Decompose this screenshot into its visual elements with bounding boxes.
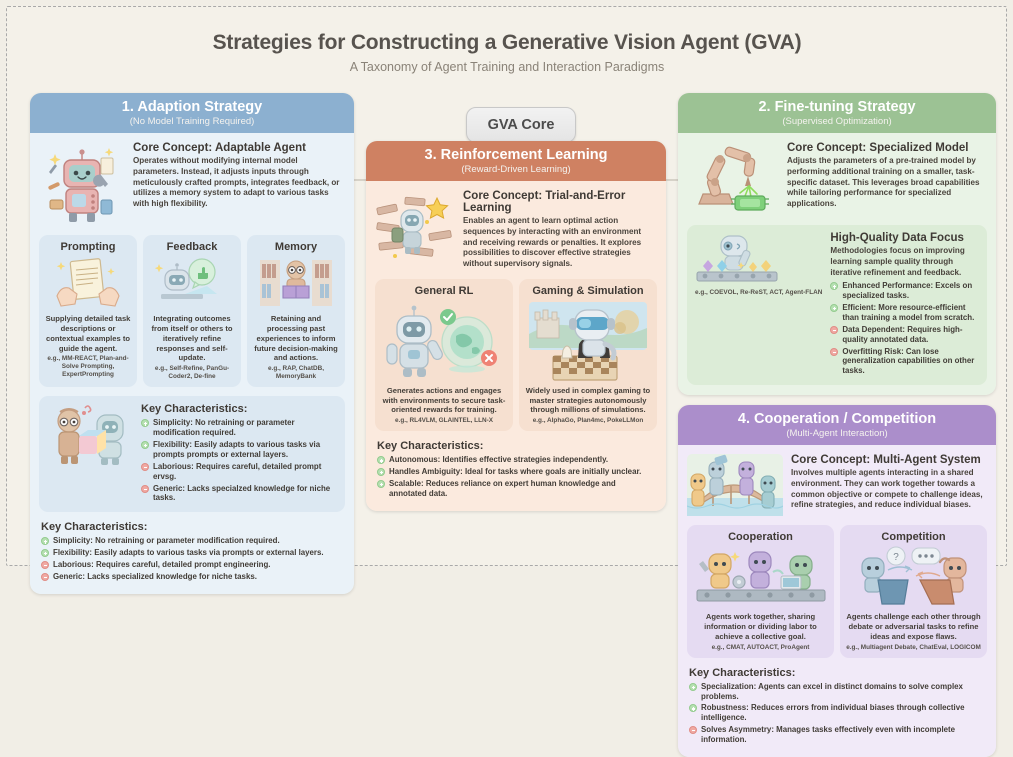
robot-with-tools-icon	[39, 142, 125, 226]
reinforcement-concept-title: Core Concept: Trial-and-Error Learning	[463, 190, 657, 214]
positive-dot-icon	[830, 304, 838, 312]
list-item: Handles Ambiguity: Ideal for tasks where…	[377, 467, 655, 477]
hands-document-icon	[44, 256, 132, 310]
adaption-inner-kc-list: Simplicity: No retraining or parameter m…	[141, 418, 337, 503]
panel-adaption-title: 1. Adaption Strategy	[34, 99, 350, 115]
panel-finetuning-strategy[interactable]: 2. Fine-tuning Strategy (Supervised Opti…	[678, 93, 996, 395]
panel-cooperation-header: 4. Cooperation / Competition (Multi-Agen…	[678, 405, 996, 445]
panel-cooperation-title: 4. Cooperation / Competition	[682, 411, 992, 427]
positive-dot-icon	[830, 282, 838, 290]
panel-reinforcement-title: 3. Reinforcement Learning	[370, 147, 662, 163]
list-item: Flexibility: Easily adapts to various ta…	[141, 440, 337, 460]
positive-dot-icon	[41, 549, 49, 557]
list-item: Simplicity: No retraining or parameter m…	[41, 536, 343, 546]
list-item: Laborious: Requires careful, detailed pr…	[41, 560, 343, 570]
adaption-subcards: Prompting	[39, 235, 345, 387]
subcard-general-rl-title: General RL	[380, 285, 508, 297]
negative-dot-icon	[141, 485, 149, 493]
robot-arm-chip-icon	[687, 142, 779, 216]
positive-dot-icon	[377, 480, 385, 488]
subcard-gaming-simulation[interactable]: Gaming & Simulation	[519, 279, 657, 432]
subcard-prompting-eg: e.g., MM-REACT, Plan-and-Solve Prompting…	[44, 355, 132, 379]
reinforcement-kc-list: Autonomous: Identifies effective strateg…	[377, 455, 655, 499]
finetuning-core-concept: Core Concept: Specialized Model Adjusts …	[687, 142, 987, 216]
robots-conveyor-icon	[692, 546, 829, 608]
panel-reinforcement-header: 3. Reinforcement Learning (Reward-Driven…	[366, 141, 666, 181]
cooperation-kc-title: Key Characteristics:	[689, 667, 985, 679]
negative-dot-icon	[141, 463, 149, 471]
cooperation-concept-title: Core Concept: Multi-Agent System	[791, 454, 987, 466]
header: Strategies for Constructing a Generative…	[18, 15, 996, 74]
robot-maze-star-icon	[375, 190, 455, 268]
list-item: Specialization: Agents can excel in dist…	[689, 682, 985, 702]
panel-finetuning-header: 2. Fine-tuning Strategy (Supervised Opti…	[678, 93, 996, 133]
subcard-cooperation-title: Cooperation	[692, 531, 829, 543]
reinforcement-concept-body: Enables an agent to learn optimal action…	[463, 216, 657, 270]
robot-vr-chess-icon	[524, 300, 652, 382]
list-item: Flexibility: Easily adapts to various ta…	[41, 548, 343, 558]
list-item: Enhanced Performance: Excels on speciali…	[830, 281, 979, 301]
subcard-gaming-simulation-eg: e.g., AlphaGo, Plan4mc, PokeLLMon	[524, 417, 652, 425]
adaption-outer-key-characteristics: Key Characteristics: Simplicity: No retr…	[39, 521, 345, 582]
reinforcement-subcards: General RL	[375, 279, 657, 432]
positive-dot-icon	[377, 456, 385, 464]
finetuning-data-focus-body: Methodologies focus on improving learnin…	[830, 246, 979, 278]
list-item: Autonomous: Identifies effective strateg…	[377, 455, 655, 465]
negative-dot-icon	[41, 561, 49, 569]
finetuning-concept-body: Adjusts the parameters of a pre-trained …	[787, 156, 987, 210]
finetuning-data-focus-title: High-Quality Data Focus	[830, 232, 979, 244]
diagram-canvas: Strategies for Constructing a Generative…	[6, 6, 1007, 566]
panel-finetuning-subtitle: (Supervised Optimization)	[682, 116, 992, 127]
cooperation-kc-list: Specialization: Agents can excel in dist…	[689, 682, 985, 745]
subcard-memory-eg: e.g., RAP, ChatDB, MemoryBank	[252, 365, 340, 381]
finetuning-data-focus[interactable]: e.g., COEVOL, Re-ReST, ACT, Agent-FLAN H…	[687, 225, 987, 385]
adaption-core-concept: Core Concept: Adaptable Agent Operates w…	[39, 142, 345, 226]
negative-dot-icon	[689, 726, 697, 734]
subcard-memory-title: Memory	[252, 241, 340, 253]
panel-adaption-strategy[interactable]: 1. Adaption Strategy (No Model Training …	[30, 93, 354, 594]
robots-bridge-icon	[687, 454, 783, 516]
subcard-prompting-desc: Supplying detailed task descriptions or …	[44, 314, 132, 353]
negative-dot-icon	[830, 326, 838, 334]
column-reinforcement: 3. Reinforcement Learning (Reward-Driven…	[366, 141, 666, 511]
adaption-outer-kc-title: Key Characteristics:	[41, 521, 343, 533]
subcard-competition-title: Competition	[845, 531, 982, 543]
list-item: Generic: Lacks specialzed knowledge for …	[141, 484, 337, 504]
robot-thumbsup-icon	[148, 256, 236, 310]
child-robot-cube-icon	[47, 403, 133, 467]
cooperation-core-concept: Core Concept: Multi-Agent System Involve…	[687, 454, 987, 516]
subcard-competition-desc: Agents challenge each other through deba…	[845, 612, 982, 642]
positive-dot-icon	[141, 419, 149, 427]
column-adaption: 1. Adaption Strategy (No Model Training …	[30, 93, 354, 594]
panel-finetuning-title: 2. Fine-tuning Strategy	[682, 99, 992, 115]
subcard-memory[interactable]: Memory	[247, 235, 345, 387]
cooperation-key-characteristics: Key Characteristics: Specialization: Age…	[687, 667, 987, 745]
finetuning-data-focus-list: Enhanced Performance: Excels on speciali…	[830, 281, 979, 376]
panel-finetuning-body: Core Concept: Specialized Model Adjusts …	[678, 133, 996, 395]
list-item: Simplicity: No retraining or parameter m…	[141, 418, 337, 438]
subcard-feedback[interactable]: Feedback	[143, 235, 241, 387]
column-right: 2. Fine-tuning Strategy (Supervised Opti…	[678, 93, 996, 757]
finetuning-concept-title: Core Concept: Specialized Model	[787, 142, 987, 154]
subcard-competition-eg: e.g., Multiagent Debate, ChatEval, LOGIC…	[845, 644, 982, 652]
subcard-competition[interactable]: Competition ?	[840, 525, 987, 658]
adaption-inner-kc-title: Key Characteristics:	[141, 403, 337, 415]
subcard-prompting[interactable]: Prompting	[39, 235, 137, 387]
subcard-feedback-desc: Integrating outcomes from itself or othe…	[148, 314, 236, 363]
reinforcement-kc-title: Key Characteristics:	[377, 440, 655, 452]
panel-reinforcement-body: Core Concept: Trial-and-Error Learning E…	[366, 181, 666, 511]
subcard-general-rl-desc: Generates actions and engages with envir…	[380, 386, 508, 416]
list-item: Data Dependent: Requires high-quality an…	[830, 325, 979, 345]
subcard-gaming-simulation-desc: Widely used in complex gaming to master …	[524, 386, 652, 416]
list-item: Robustness: Reduces errors from individu…	[689, 703, 985, 723]
panel-reinforcement-learning[interactable]: 3. Reinforcement Learning (Reward-Driven…	[366, 141, 666, 511]
panel-adaption-header: 1. Adaption Strategy (No Model Training …	[30, 93, 354, 133]
page-subtitle: A Taxonomy of Agent Training and Interac…	[18, 60, 996, 74]
adaption-concept-body: Operates without modifying internal mode…	[133, 156, 345, 210]
reinforcement-core-concept: Core Concept: Trial-and-Error Learning E…	[375, 190, 657, 270]
subcard-prompting-title: Prompting	[44, 241, 132, 253]
panel-reinforcement-subtitle: (Reward-Driven Learning)	[370, 164, 662, 175]
panel-adaption-subtitle: (No Model Training Required)	[34, 116, 350, 127]
subcard-cooperation-desc: Agents work together, sharing informatio…	[692, 612, 829, 642]
robots-debate-icon: ?	[845, 546, 982, 608]
list-item: Laborious: Requires careful, detailed pr…	[141, 462, 337, 482]
panel-cooperation-competition[interactable]: 4. Cooperation / Competition (Multi-Agen…	[678, 405, 996, 757]
negative-dot-icon	[41, 573, 49, 581]
subcard-feedback-eg: e.g., Self-Refine, PanGu-Coder2, De-fine	[148, 365, 236, 381]
subcard-cooperation[interactable]: Cooperation	[687, 525, 834, 658]
list-item: Overfitting Risk: Can lose generalizatio…	[830, 347, 979, 377]
positive-dot-icon	[141, 441, 149, 449]
subcard-cooperation-eg: e.g., CMAT, AUTOACT, ProAgent	[692, 644, 829, 652]
subcard-general-rl-eg: e.g., RL4VLM, GLAINTEL, LLN-X	[380, 417, 508, 425]
list-item: Generic: Lacks specialized knowledge for…	[41, 572, 343, 582]
positive-dot-icon	[41, 537, 49, 545]
subcard-memory-desc: Retaining and processing past experience…	[252, 314, 340, 363]
reinforcement-key-characteristics: Key Characteristics: Autonomous: Identif…	[375, 440, 657, 499]
positive-dot-icon	[689, 683, 697, 691]
gva-core-node[interactable]: GVA Core	[466, 107, 576, 143]
page-title: Strategies for Constructing a Generative…	[18, 31, 996, 55]
list-item: Efficient: More resource-efficient than …	[830, 303, 979, 323]
finetuning-data-focus-eg: e.g., COEVOL, Re-ReST, ACT, Agent-FLAN	[695, 289, 822, 297]
panel-cooperation-subtitle: (Multi-Agent Interaction)	[682, 428, 992, 439]
adaption-outer-kc-list: Simplicity: No retraining or parameter m…	[41, 536, 343, 582]
svg-text:?: ?	[893, 552, 899, 563]
subcard-general-rl[interactable]: General RL	[375, 279, 513, 432]
list-item: Solves Asymmetry: Manages tasks effectiv…	[689, 725, 985, 745]
positive-dot-icon	[689, 704, 697, 712]
robot-conveyor-gems-icon: e.g., COEVOL, Re-ReST, ACT, Agent-FLAN	[695, 232, 822, 297]
adaption-concept-title: Core Concept: Adaptable Agent	[133, 142, 345, 154]
cooperation-concept-body: Involves multiple agents interacting in …	[791, 468, 987, 511]
negative-dot-icon	[830, 348, 838, 356]
list-item: Scalable: Reduces reliance on expert hum…	[377, 479, 655, 499]
robot-globe-icon	[380, 300, 508, 382]
panel-cooperation-body: Core Concept: Multi-Agent System Involve…	[678, 445, 996, 757]
subcard-gaming-simulation-title: Gaming & Simulation	[524, 285, 652, 297]
positive-dot-icon	[377, 468, 385, 476]
robot-library-icon	[252, 256, 340, 310]
adaption-inner-key-characteristics: Key Characteristics: Simplicity: No retr…	[39, 396, 345, 512]
subcard-feedback-title: Feedback	[148, 241, 236, 253]
panel-adaption-body: Core Concept: Adaptable Agent Operates w…	[30, 133, 354, 594]
cooperation-subcards: Cooperation	[687, 525, 987, 658]
